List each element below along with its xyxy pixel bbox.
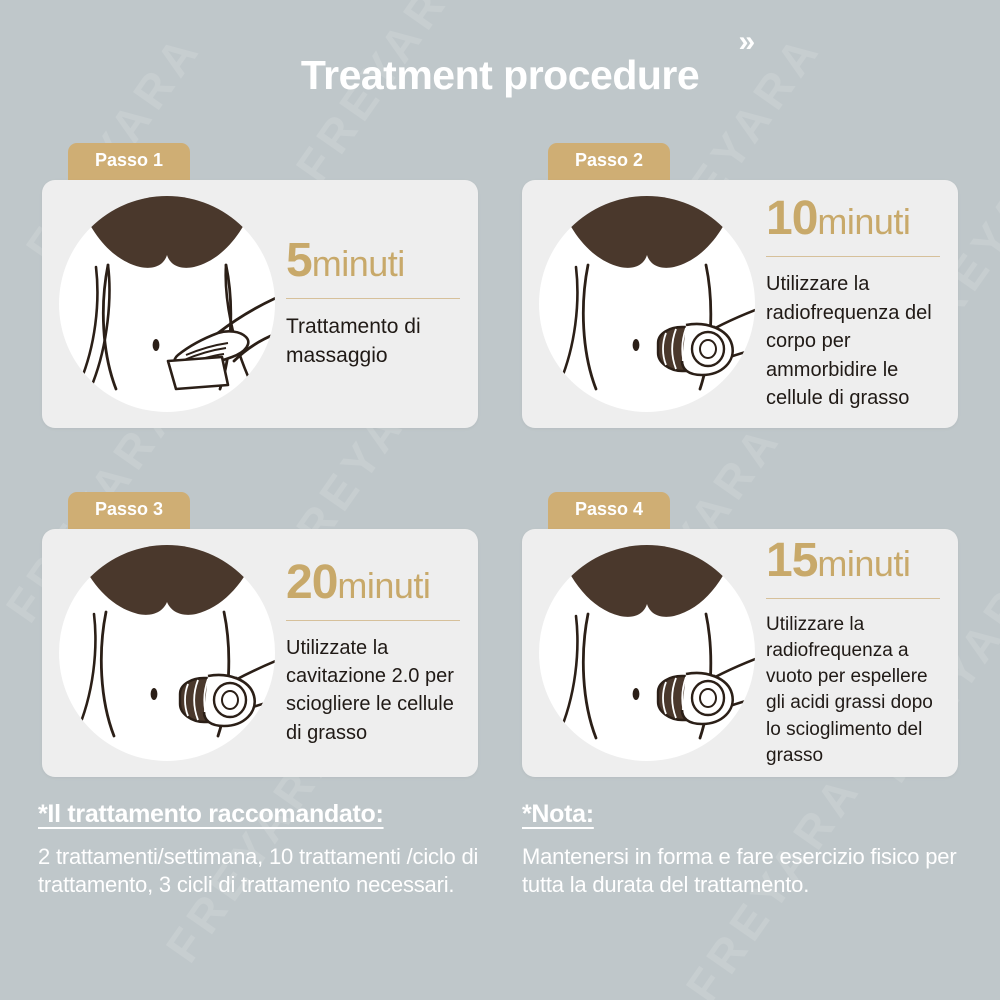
step-duration-number-3: 20 bbox=[286, 556, 337, 609]
step-card-body-3: 20minuti Utilizzate la cavitazione 2.0 p… bbox=[42, 529, 478, 777]
note-title: *Nota: bbox=[522, 800, 992, 829]
step-duration-unit-2: minuti bbox=[817, 201, 910, 242]
step-card-body-4: 15minuti Utilizzare la radiofrequenza a … bbox=[522, 529, 958, 777]
step-description-3: Utilizzate la cavitazione 2.0 per sciogl… bbox=[286, 634, 460, 748]
step-description-1: Trattamento di massaggio bbox=[286, 312, 460, 372]
double-chevron-right-icon: » bbox=[738, 25, 751, 59]
step-tab-4: Passo 4 bbox=[548, 492, 670, 529]
step-tab-3: Passo 3 bbox=[68, 492, 190, 529]
step-duration-unit-4: minuti bbox=[817, 543, 910, 584]
step-description-2: Utilizzare la radiofrequenza del corpo p… bbox=[766, 270, 940, 412]
step-duration-number-4: 15 bbox=[766, 534, 817, 587]
step-card-body-2: 10minuti Utilizzare la radiofrequenza de… bbox=[522, 180, 958, 428]
step-text-3: 20minuti Utilizzate la cavitazione 2.0 p… bbox=[278, 559, 464, 748]
step-duration-number-2: 10 bbox=[766, 192, 817, 245]
header: Treatment procedure » bbox=[0, 52, 1000, 99]
step-card-3: Passo 3 bbox=[42, 492, 478, 777]
torso-vacuum-rf-device-icon bbox=[536, 542, 758, 764]
note-body: 2 trattamenti/settimana, 10 trattamenti … bbox=[38, 843, 508, 899]
divider-4 bbox=[766, 598, 940, 599]
step-card-2: Passo 2 bbox=[522, 143, 958, 428]
step-tab-1: Passo 1 bbox=[68, 143, 190, 180]
torso-rf-device-icon bbox=[536, 193, 758, 415]
step-text-1: 5minuti Trattamento di massaggio bbox=[278, 237, 464, 372]
step-text-2: 10minuti Utilizzare la radiofrequenza de… bbox=[758, 195, 944, 412]
step-duration-unit-1: minuti bbox=[312, 243, 405, 284]
step-duration-1: 5minuti bbox=[286, 237, 460, 285]
step-text-4: 15minuti Utilizzare la radiofrequenza a … bbox=[758, 537, 944, 769]
step-duration-2: 10minuti bbox=[766, 195, 940, 243]
page-title-text: Treatment procedure bbox=[301, 52, 699, 98]
note-recommended-treatment: *Il trattamento raccomandato: 2 trattame… bbox=[38, 800, 508, 899]
divider-3 bbox=[286, 620, 460, 621]
step-tab-2: Passo 2 bbox=[548, 143, 670, 180]
note-body: Mantenersi in forma e fare esercizio fis… bbox=[522, 843, 992, 899]
step-card-body-1: 5minuti Trattamento di massaggio bbox=[42, 180, 478, 428]
step-card-4: Passo 4 bbox=[522, 492, 958, 777]
note-title: *Il trattamento raccomandato: bbox=[38, 800, 508, 829]
page-title: Treatment procedure » bbox=[301, 52, 699, 99]
divider-1 bbox=[286, 298, 460, 299]
note-general: *Nota: Mantenersi in forma e fare eserci… bbox=[522, 800, 992, 899]
torso-hand-massage-icon bbox=[56, 193, 278, 415]
step-description-4: Utilizzare la radiofrequenza a vuoto per… bbox=[766, 612, 940, 769]
torso-cavitation-device-icon bbox=[56, 542, 278, 764]
step-duration-3: 20minuti bbox=[286, 559, 460, 607]
step-card-1: Passo 1 bbox=[42, 143, 478, 428]
step-duration-unit-3: minuti bbox=[337, 565, 430, 606]
divider-2 bbox=[766, 256, 940, 257]
step-duration-number-1: 5 bbox=[286, 234, 312, 287]
step-duration-4: 15minuti bbox=[766, 537, 940, 585]
